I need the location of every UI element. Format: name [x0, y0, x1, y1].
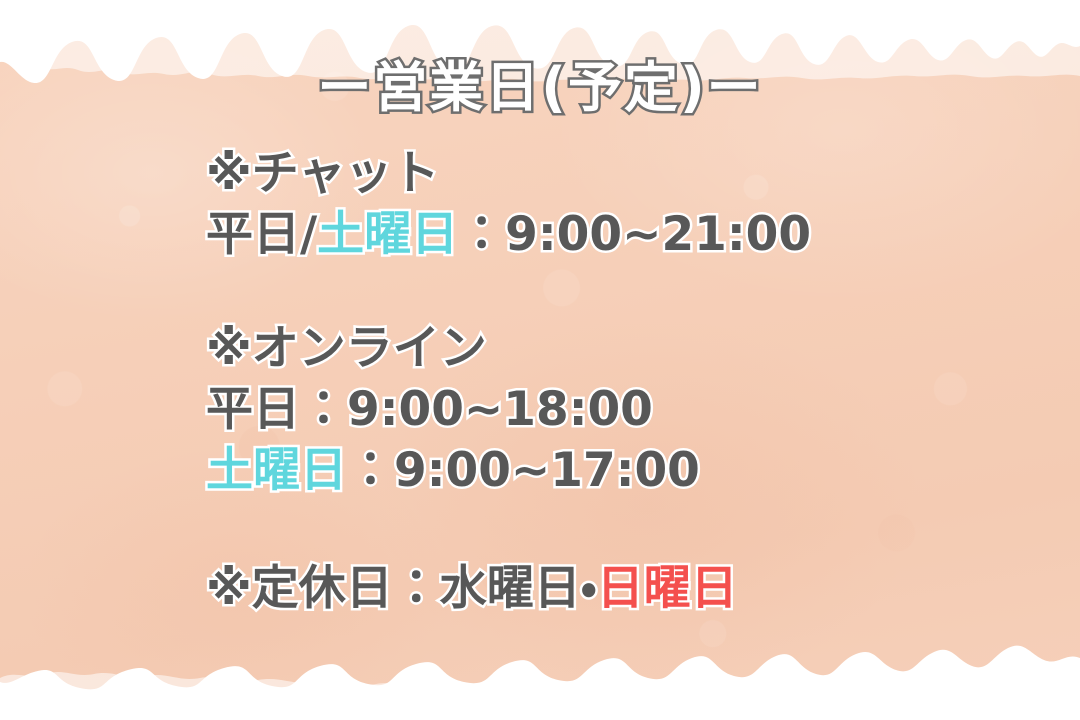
- online-heading: ※オンライン: [206, 318, 700, 379]
- chat-hours-block: ※チャット 平日/土曜日：9:00~21:00: [206, 143, 811, 265]
- chat-heading: ※チャット: [206, 143, 811, 204]
- closed-days-line: ※定休日：水曜日・日曜日: [206, 558, 738, 619]
- chat-saturday-label: 土曜日: [317, 207, 458, 262]
- online-saturday-label: 土曜日: [206, 443, 347, 498]
- online-saturday-line: 土曜日：9:00~17:00: [206, 440, 700, 501]
- online-weekday-line: 平日：9:00~18:00: [206, 379, 700, 440]
- page-title: ー営業日(予定)ー: [0, 58, 1080, 117]
- chat-hours-value: ：9:00~21:00: [458, 207, 811, 262]
- chat-hours-line: 平日/土曜日：9:00~21:00: [206, 204, 811, 265]
- closed-days-separator: ・: [581, 561, 597, 616]
- closed-day-wednesday: 水曜日: [440, 561, 581, 616]
- online-weekday-value: ：9:00~18:00: [300, 382, 653, 437]
- online-hours-block: ※オンライン 平日：9:00~18:00 土曜日：9:00~17:00: [206, 318, 700, 501]
- closed-days-prefix: ※定休日：: [206, 561, 440, 616]
- closed-day-sunday: 日曜日: [597, 561, 738, 616]
- online-weekday-label: 平日: [206, 382, 300, 437]
- poster-content: ー営業日(予定)ー ※チャット 平日/土曜日：9:00~21:00 ※オンライン…: [0, 0, 1080, 720]
- online-saturday-value: ：9:00~17:00: [347, 443, 700, 498]
- business-hours-poster: ー営業日(予定)ー ※チャット 平日/土曜日：9:00~21:00 ※オンライン…: [0, 0, 1080, 720]
- closed-days-block: ※定休日：水曜日・日曜日: [206, 558, 738, 619]
- chat-weekday-label: 平日/: [206, 207, 317, 262]
